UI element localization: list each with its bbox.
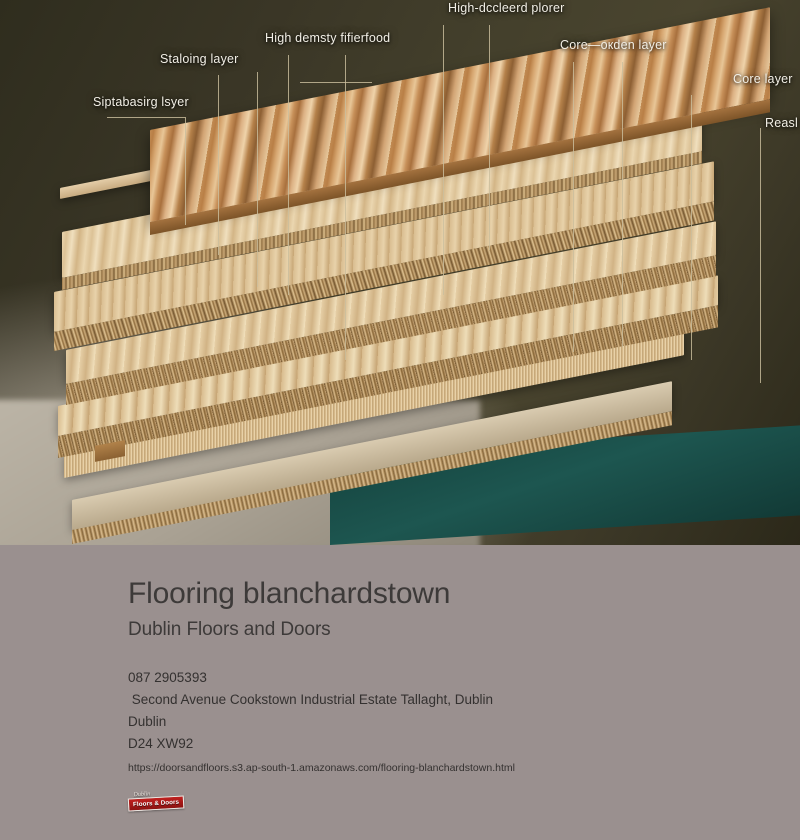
company-logo[interactable]: Dublin Floors & Doors (127, 791, 184, 814)
callout-label-substrate-layer: Siptabasirg lsyer (93, 95, 189, 109)
leader-line-v-10 (691, 95, 692, 360)
leader-line-v-1 (185, 117, 186, 225)
leader-line-v-8 (573, 62, 574, 352)
leader-line-v-5 (345, 55, 346, 360)
leader-line-v-3 (257, 72, 258, 287)
city: Dublin (128, 711, 800, 733)
callout-label-stabilising-layer: Staloing layer (160, 52, 239, 66)
postcode: D24 XW92 (128, 733, 800, 755)
street-address: Second Avenue Cookstown Industrial Estat… (128, 689, 800, 711)
phone-number: 087 2905393 (128, 667, 800, 689)
leader-line-v-4 (288, 55, 289, 295)
hero-image: Siptabasirg lsyer Staloing layer High de… (0, 0, 800, 545)
business-info-panel: Flooring blanchardstown Dublin Floors an… (0, 545, 800, 840)
leader-line-v-9 (622, 62, 623, 347)
callout-label-real-wood: Reasl v (765, 116, 800, 130)
leader-line-v-11 (760, 128, 761, 383)
flooring-layer-stack (0, 0, 800, 545)
business-name: Dublin Floors and Doors (128, 619, 800, 641)
callout-label-high-density-plank: High-dccleerd plorer (448, 1, 565, 15)
callout-label-core-layer: Core layer (733, 72, 793, 86)
callout-label-high-density-fiberboard: High demsty fifierfood (265, 31, 390, 45)
page-title: Flooring blanchardstown (128, 577, 800, 611)
leader-line-v-7 (489, 25, 490, 250)
leader-line-h-1 (107, 117, 185, 118)
callout-label-core-oak-layer: Core—oкden layer (560, 38, 667, 52)
website-url[interactable]: https://doorsandfloors.s3.ap-south-1.ama… (128, 761, 800, 777)
contact-details: 087 2905393 Second Avenue Cookstown Indu… (128, 667, 800, 777)
leader-line-v-2 (218, 75, 219, 255)
leader-line-v-6 (443, 25, 444, 295)
leader-line-h-2 (300, 82, 372, 83)
